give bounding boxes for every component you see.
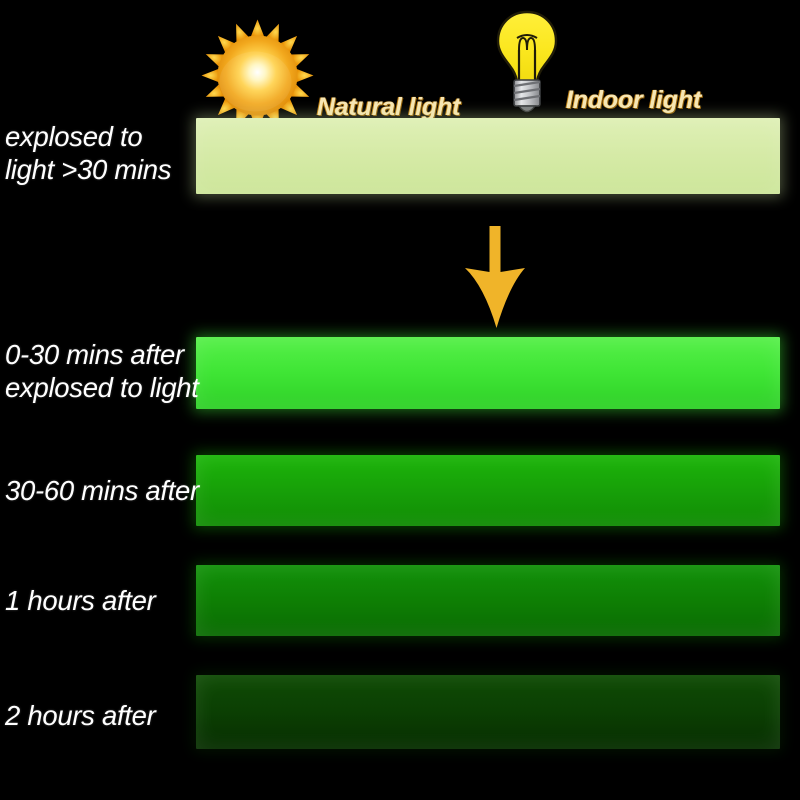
row-label-1-hours-after: 1 hours after <box>5 584 156 617</box>
bar-0-30-mins-after <box>196 337 780 409</box>
legend-label-indoor-light: Indoor light <box>566 88 701 113</box>
legend-item-indoor-light: Indoor light <box>492 8 701 125</box>
bar-2-hours-after <box>196 675 780 749</box>
row-label-2-hours-after: 2 hours after <box>5 699 156 732</box>
lightbulb-icon <box>492 8 562 125</box>
bar-30-60-mins-after <box>196 455 780 526</box>
row-label-30-60-mins-after: 30-60 mins after <box>5 474 199 507</box>
row-label-exposed-to-light: explosed to light >30 mins <box>5 120 171 186</box>
down-arrow-icon <box>455 224 535 330</box>
legend-label-natural-light: Natural light <box>317 95 460 120</box>
diagram-canvas: Natural light <box>0 0 800 800</box>
bar-exposed-to-light <box>196 118 780 194</box>
row-label-0-30-mins-after: 0-30 mins after explosed to light <box>5 338 199 404</box>
bar-1-hours-after <box>196 565 780 636</box>
